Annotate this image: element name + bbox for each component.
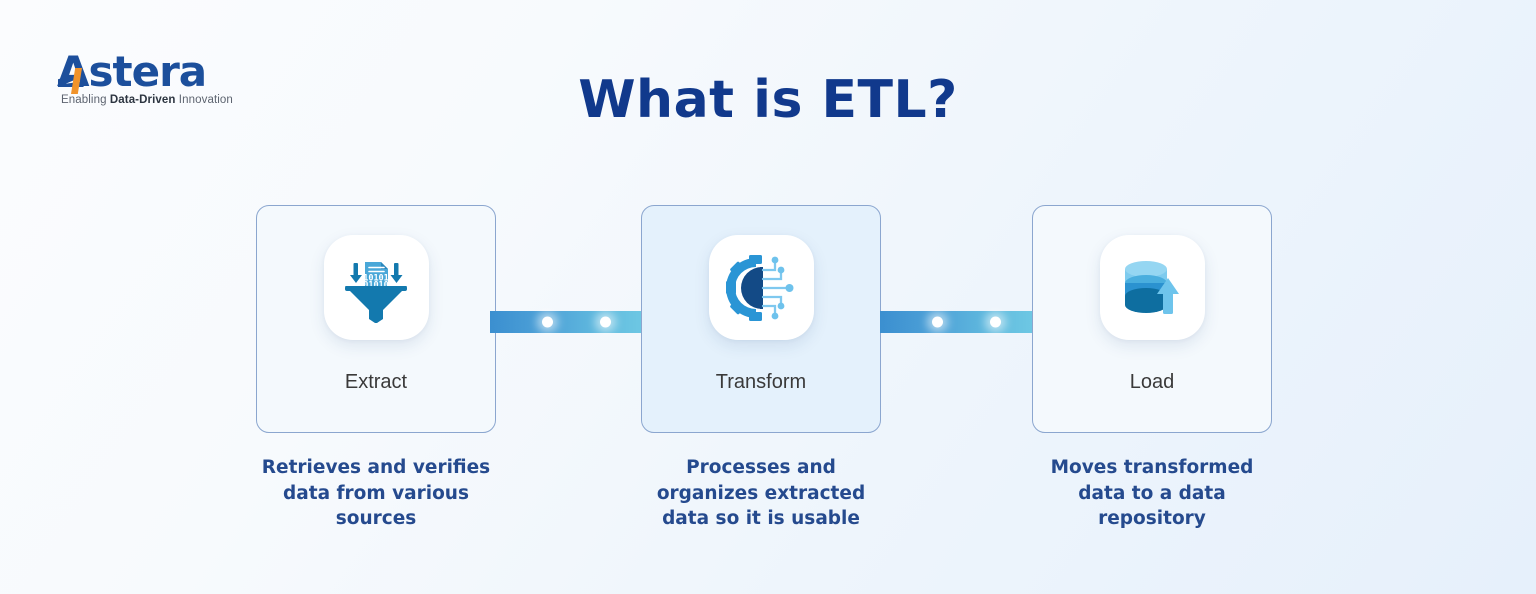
step-caption-load: Moves transformed data to a data reposit…: [1027, 455, 1277, 532]
step-caption-transform: Processes and organizes extracted data s…: [636, 455, 886, 532]
page-title: What is ETL?: [0, 70, 1536, 130]
infographic-canvas: Astera Enabling Data-Driven Innovation W…: [0, 0, 1536, 594]
gear-circuit-icon: [725, 253, 797, 323]
extract-icon-tile: 10101 01010: [324, 235, 429, 340]
connector-dot: [542, 317, 553, 328]
database-upload-icon: [1117, 254, 1187, 322]
etl-flow: 10101 01010 Extract: [0, 205, 1536, 435]
funnel-document-icon: 10101 01010: [339, 253, 413, 323]
connector-dot: [990, 317, 1001, 328]
connector-extract-to-transform: [490, 311, 648, 333]
step-card-extract[interactable]: 10101 01010 Extract: [256, 205, 496, 433]
step-caption-extract: Retrieves and verifies data from various…: [251, 455, 501, 532]
step-label-load: Load: [1130, 371, 1175, 394]
step-label-extract: Extract: [345, 371, 407, 394]
connector-dot: [600, 317, 611, 328]
load-icon-tile: [1100, 235, 1205, 340]
transform-icon-tile: [709, 235, 814, 340]
step-card-load[interactable]: Load: [1032, 205, 1272, 433]
step-label-transform: Transform: [716, 371, 806, 394]
connector-transform-to-load: [880, 311, 1038, 333]
connector-dot: [932, 317, 943, 328]
step-card-transform[interactable]: Transform: [641, 205, 881, 433]
